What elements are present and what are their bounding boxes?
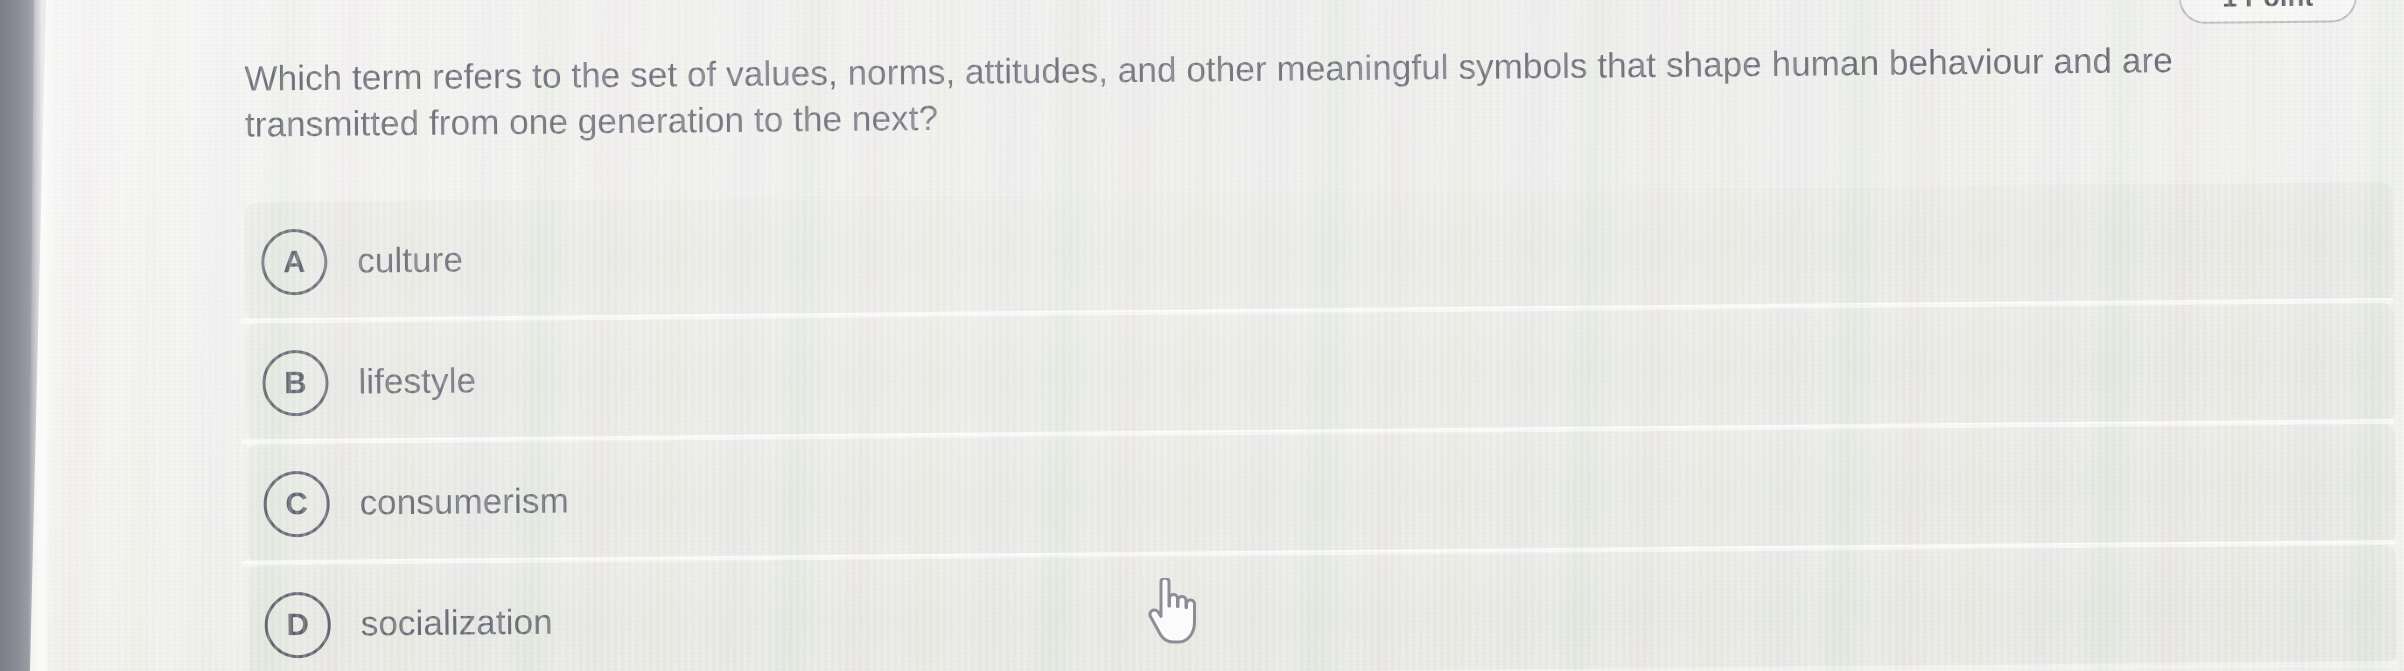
option-letter-badge-a: A xyxy=(261,228,328,295)
option-letter-badge-b: B xyxy=(262,349,329,416)
option-label-d: socialization xyxy=(361,602,553,644)
answer-option-b[interactable]: B lifestyle xyxy=(246,303,2395,443)
answer-option-a[interactable]: A culture xyxy=(245,182,2394,322)
option-letter-a: A xyxy=(283,246,306,277)
quiz-screenshot: 1 Point Which term refers to the set of … xyxy=(0,0,2404,671)
answer-option-d[interactable]: D socialization xyxy=(248,545,2397,671)
points-badge: 1 Point xyxy=(2179,0,2357,24)
option-letter-c: C xyxy=(285,488,308,519)
option-label-a: culture xyxy=(357,240,463,281)
answer-options-list: A culture B lifestyle C consumerism D xyxy=(245,182,2398,671)
option-label-c: consumerism xyxy=(359,481,569,523)
question-text: Which term refers to the set of values, … xyxy=(244,37,2315,148)
option-letter-badge-c: C xyxy=(263,470,330,537)
option-letter-b: B xyxy=(284,367,307,398)
answer-option-c[interactable]: C consumerism xyxy=(247,424,2396,564)
quiz-content: 1 Point Which term refers to the set of … xyxy=(0,0,2404,671)
option-label-b: lifestyle xyxy=(358,361,476,402)
points-badge-label: 1 Point xyxy=(2222,0,2314,13)
option-letter-d: D xyxy=(286,609,309,640)
option-letter-badge-d: D xyxy=(264,591,331,658)
